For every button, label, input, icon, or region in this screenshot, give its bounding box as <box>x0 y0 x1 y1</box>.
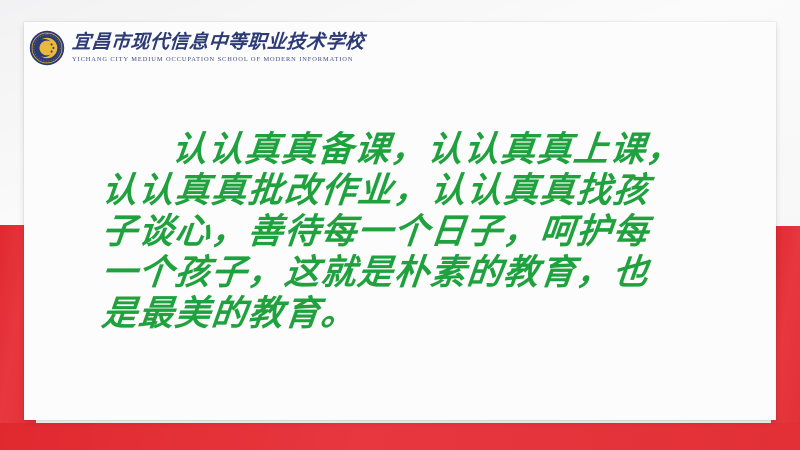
school-brand-text: 宜昌市现代信息中等职业技术学校 YICHANG CITY MEDIUM OCCU… <box>72 31 365 65</box>
school-crest-icon: ★ <box>29 30 65 66</box>
school-brand-header: ★ 宜昌市现代信息中等职业技术学校 YICHANG CITY MEDIUM OC… <box>29 30 365 66</box>
school-name-chinese: 宜昌市现代信息中等职业技术学校 <box>71 31 365 53</box>
school-name-english: YICHANG CITY MEDIUM OCCUPATION SCHOOL OF… <box>72 55 365 65</box>
red-accent-bar-bottom <box>0 423 800 450</box>
quote-text-block: 认认真真备课，认认真真上课， 认认真真批改作业，认认真真找孩 子谈心，善待每一个… <box>102 130 722 335</box>
quote-line: 是最美的教育。 <box>100 294 724 335</box>
slide-content-card: ★ 宜昌市现代信息中等职业技术学校 YICHANG CITY MEDIUM OC… <box>24 22 776 420</box>
quote-line: 认认真真备课，认认真真上课， <box>100 130 724 171</box>
quote-line: 认认真真批改作业，认认真真找孩 <box>100 171 724 212</box>
svg-text:★: ★ <box>46 33 48 36</box>
quote-line: 一个孩子，这就是朴素的教育，也 <box>100 253 724 294</box>
quote-line: 子谈心，善待每一个日子，呵护每 <box>100 212 724 253</box>
presentation-slide: ★ 宜昌市现代信息中等职业技术学校 YICHANG CITY MEDIUM OC… <box>0 0 800 450</box>
